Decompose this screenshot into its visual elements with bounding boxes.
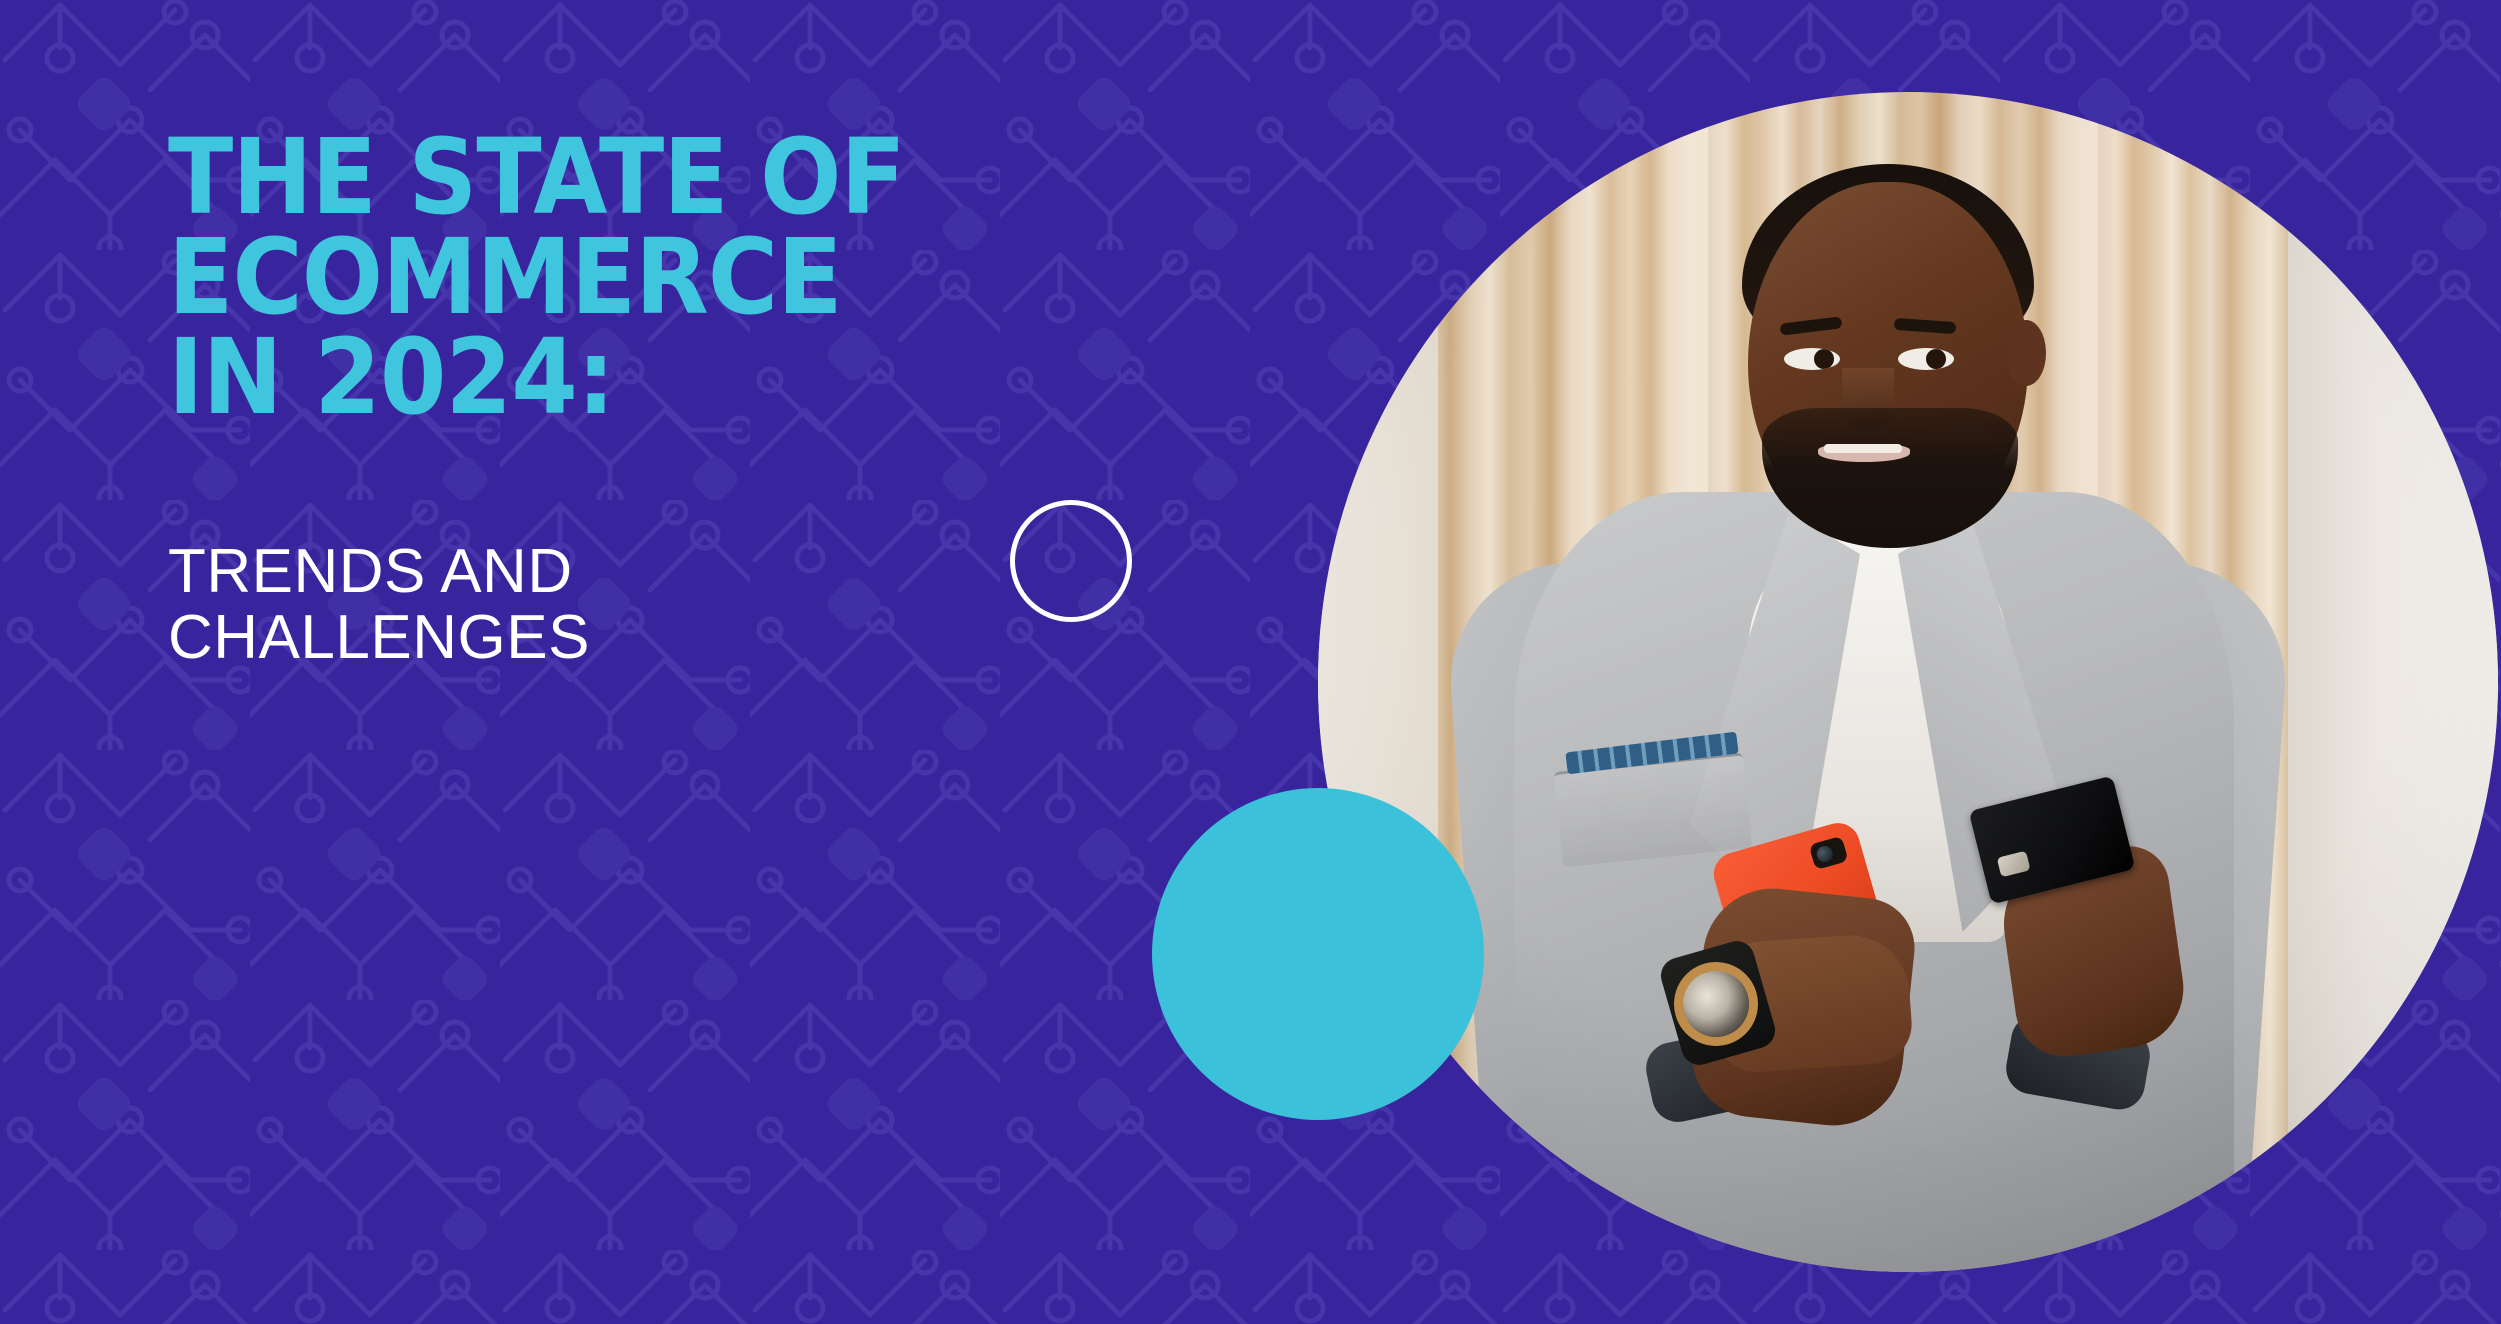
ring-outline-icon bbox=[1010, 500, 1132, 622]
iris-right bbox=[1926, 349, 1946, 369]
ecommerce-report-banner: THE STATE OF ECOMMERCE IN 2024: TRENDS A… bbox=[0, 0, 2501, 1324]
hero-photo bbox=[1318, 92, 2498, 1272]
hero-photo-circle bbox=[1318, 92, 2498, 1272]
eye-left bbox=[1784, 348, 1840, 370]
teeth bbox=[1824, 444, 1902, 453]
card-chip-icon bbox=[1997, 851, 2031, 878]
iris-left bbox=[1814, 349, 1834, 369]
eye-right bbox=[1898, 348, 1954, 370]
page-title: THE STATE OF ECOMMERCE IN 2024: bbox=[168, 128, 1106, 427]
teal-circle-decoration bbox=[1152, 788, 1484, 1120]
person-subject bbox=[1318, 92, 2498, 1272]
phone-camera-icon bbox=[1809, 836, 1849, 870]
ear bbox=[2006, 320, 2046, 386]
